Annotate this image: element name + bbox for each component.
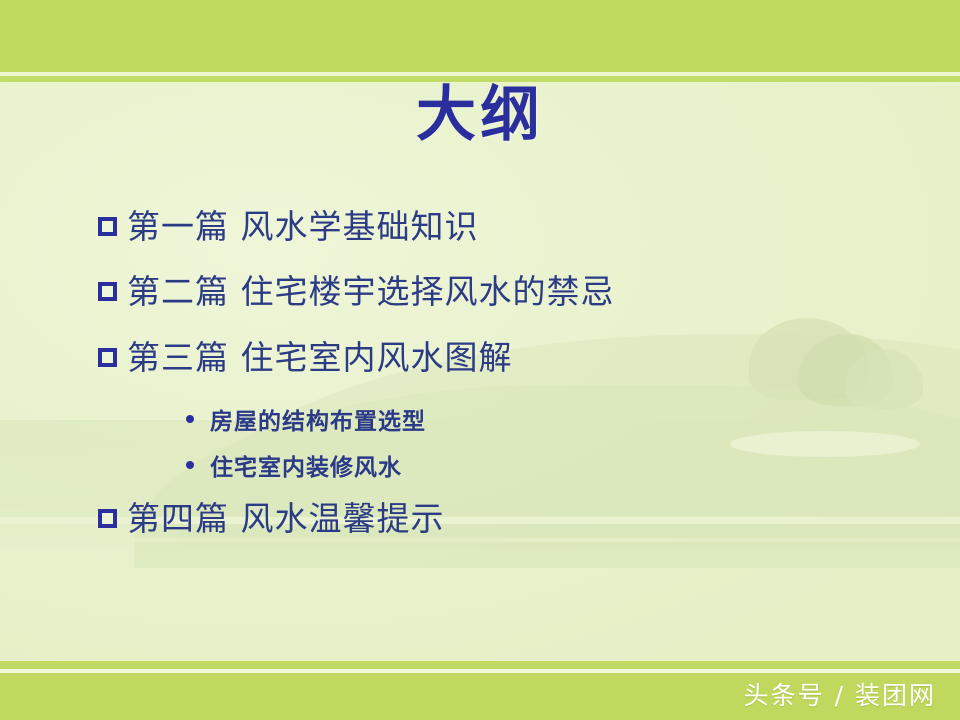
outline-list: 第一篇 风水学基础知识 第二篇 住宅楼宇选择风水的禁忌 第三篇 住宅室内风水图解… <box>98 206 920 539</box>
top-decorative-band <box>0 0 960 72</box>
list-item-label: 第一篇 风水学基础知识 <box>127 206 479 247</box>
list-item[interactable]: 第一篇 风水学基础知识 <box>98 206 920 247</box>
hollow-square-bullet-icon <box>98 348 117 367</box>
hollow-square-bullet-icon <box>98 509 117 528</box>
list-item-label: 第二篇 住宅楼宇选择风水的禁忌 <box>127 271 615 312</box>
list-item-label: 第三篇 住宅室内风水图解 <box>127 337 513 378</box>
round-dot-bullet-icon <box>186 415 194 423</box>
sub-list: 房屋的结构布置选型 住宅室内装修风水 <box>186 402 920 482</box>
list-item-label: 第四篇 风水温馨提示 <box>127 498 445 539</box>
list-item[interactable]: 第二篇 住宅楼宇选择风水的禁忌 <box>98 271 920 312</box>
hollow-square-bullet-icon <box>98 282 117 301</box>
sub-list-item[interactable]: 住宅室内装修风水 <box>186 448 920 482</box>
round-dot-bullet-icon <box>186 461 194 469</box>
presentation-slide: 大纲 第一篇 风水学基础知识 第二篇 住宅楼宇选择风水的禁忌 第三篇 住宅室内风… <box>0 0 960 720</box>
list-item[interactable]: 第四篇 风水温馨提示 <box>98 498 920 539</box>
list-item[interactable]: 第三篇 住宅室内风水图解 <box>98 337 920 378</box>
sub-list-item-label: 房屋的结构布置选型 <box>210 402 426 436</box>
sub-list-item-label: 住宅室内装修风水 <box>210 448 402 482</box>
footer-credit: 头条号 / 装团网 <box>744 676 936 716</box>
sub-list-item[interactable]: 房屋的结构布置选型 <box>186 402 920 436</box>
hollow-square-bullet-icon <box>98 217 117 236</box>
bottom-stripe-green <box>0 661 960 669</box>
page-title: 大纲 <box>0 84 960 147</box>
